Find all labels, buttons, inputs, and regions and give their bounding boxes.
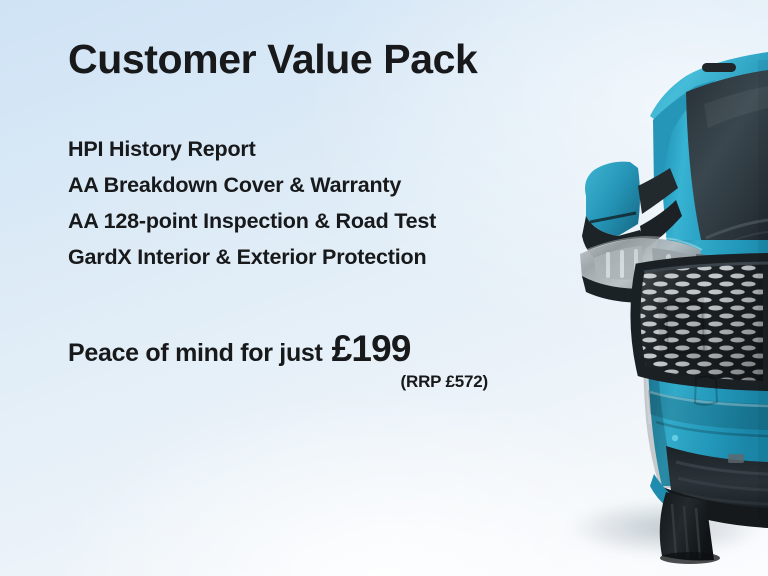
- page-title: Customer Value Pack: [68, 38, 477, 81]
- price-block: Peace of mind for just £199 (RRP £572): [68, 328, 488, 392]
- price-rrp-note: (RRP £572): [68, 372, 488, 392]
- list-item: GardX Interior & Exterior Protection: [68, 239, 436, 275]
- list-item: AA 128-point Inspection & Road Test: [68, 203, 436, 239]
- promo-banner: Customer Value Pack HPI History Report A…: [0, 0, 768, 576]
- list-item: AA Breakdown Cover & Warranty: [68, 167, 436, 203]
- blue-van-front-view-image: [490, 0, 768, 576]
- feature-list: HPI History Report AA Breakdown Cover & …: [68, 131, 436, 275]
- price-lead-text: Peace of mind for just: [68, 339, 323, 368]
- list-item: HPI History Report: [68, 131, 436, 167]
- price-line: Peace of mind for just £199: [68, 328, 488, 370]
- price-amount: £199: [332, 328, 411, 370]
